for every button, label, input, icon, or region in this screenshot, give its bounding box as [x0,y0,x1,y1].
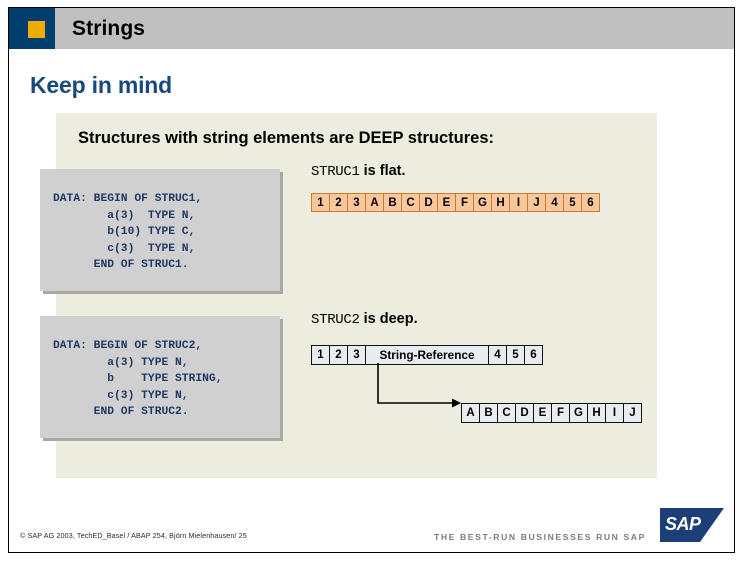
code-text-struc2: DATA: BEGIN OF STRUC2, a(3) TYPE N, b TY… [53,338,280,421]
deep-structure-cell: 3 [347,345,366,365]
string-content-cell: F [551,403,570,423]
string-content-cell: H [587,403,606,423]
flat-structure-cell: F [455,193,474,212]
header-title: Strings [72,17,145,41]
string-content-cell: B [479,403,498,423]
flat-structure-cell: 2 [329,193,348,212]
label-struc2-mono: STRUC2 [311,312,360,328]
code-block-struc2: DATA: BEGIN OF STRUC2, a(3) TYPE N, b TY… [40,316,280,438]
string-content-cells: ABCDEFGHIJ [461,403,641,423]
flat-structure-cell: B [383,193,402,212]
header-accent-square-icon [28,21,45,38]
content-panel: Structures with string elements are DEEP… [56,113,657,478]
label-struc1-is-flat: STRUC1 is flat. [311,163,406,180]
string-content-cell: A [461,403,480,423]
slide-header: Strings [9,8,734,49]
label-struc1-rest: is flat. [360,163,406,179]
header-title-bar: Strings [55,8,734,49]
code-text-struc1: DATA: BEGIN OF STRUC1, a(3) TYPE N, b(10… [53,191,280,274]
header-navy-block [9,8,55,49]
page-title: Keep in mind [30,72,172,99]
flat-structure-cell: A [365,193,384,212]
footer-copyright: © SAP AG 2003, TechED_Basel / ABAP 254, … [20,531,247,540]
label-struc2-is-deep: STRUC2 is deep. [311,311,418,328]
flat-structure-cell: G [473,193,492,212]
deep-structure-cell: 5 [506,345,525,365]
flat-structure-cell: H [491,193,510,212]
flat-structure-cell: 5 [563,193,582,212]
sap-logo-registered-dot-icon [714,535,717,538]
string-content-cell: E [533,403,552,423]
footer-tagline: THE BEST-RUN BUSINESSES RUN SAP [434,532,646,542]
flat-structure-cell: D [419,193,438,212]
deep-structure-cells: 123String-Reference456 [311,345,542,365]
deep-structure-cell: 1 [311,345,330,365]
flat-structure-cell: 1 [311,193,330,212]
label-struc1-mono: STRUC1 [311,164,360,180]
flat-structure-cell: 3 [347,193,366,212]
flat-structure-cell: I [509,193,528,212]
flat-structure-cell: E [437,193,456,212]
string-content-cell: C [497,403,516,423]
string-content-cell: I [605,403,624,423]
deep-structure-cell: 4 [488,345,507,365]
panel-heading: Structures with string elements are DEEP… [78,129,494,148]
label-struc2-rest: is deep. [360,311,418,327]
slide: Strings Keep in mind Structures with str… [0,0,743,561]
string-content-cell: G [569,403,588,423]
flat-structure-cells: 123ABCDEFGHIJ456 [311,193,599,212]
flat-structure-cell: C [401,193,420,212]
string-content-cell: D [515,403,534,423]
sap-logo-text: SAP [665,514,701,535]
deep-structure-cell: String-Reference [365,345,489,365]
string-content-cell: J [623,403,642,423]
deep-structure-cell: 6 [524,345,543,365]
flat-structure-cell: J [527,193,546,212]
code-block-struc1: DATA: BEGIN OF STRUC1, a(3) TYPE N, b(10… [40,169,280,291]
flat-structure-cell: 6 [581,193,600,212]
deep-structure-cell: 2 [329,345,348,365]
flat-structure-cell: 4 [545,193,564,212]
sap-logo: SAP [660,508,724,542]
